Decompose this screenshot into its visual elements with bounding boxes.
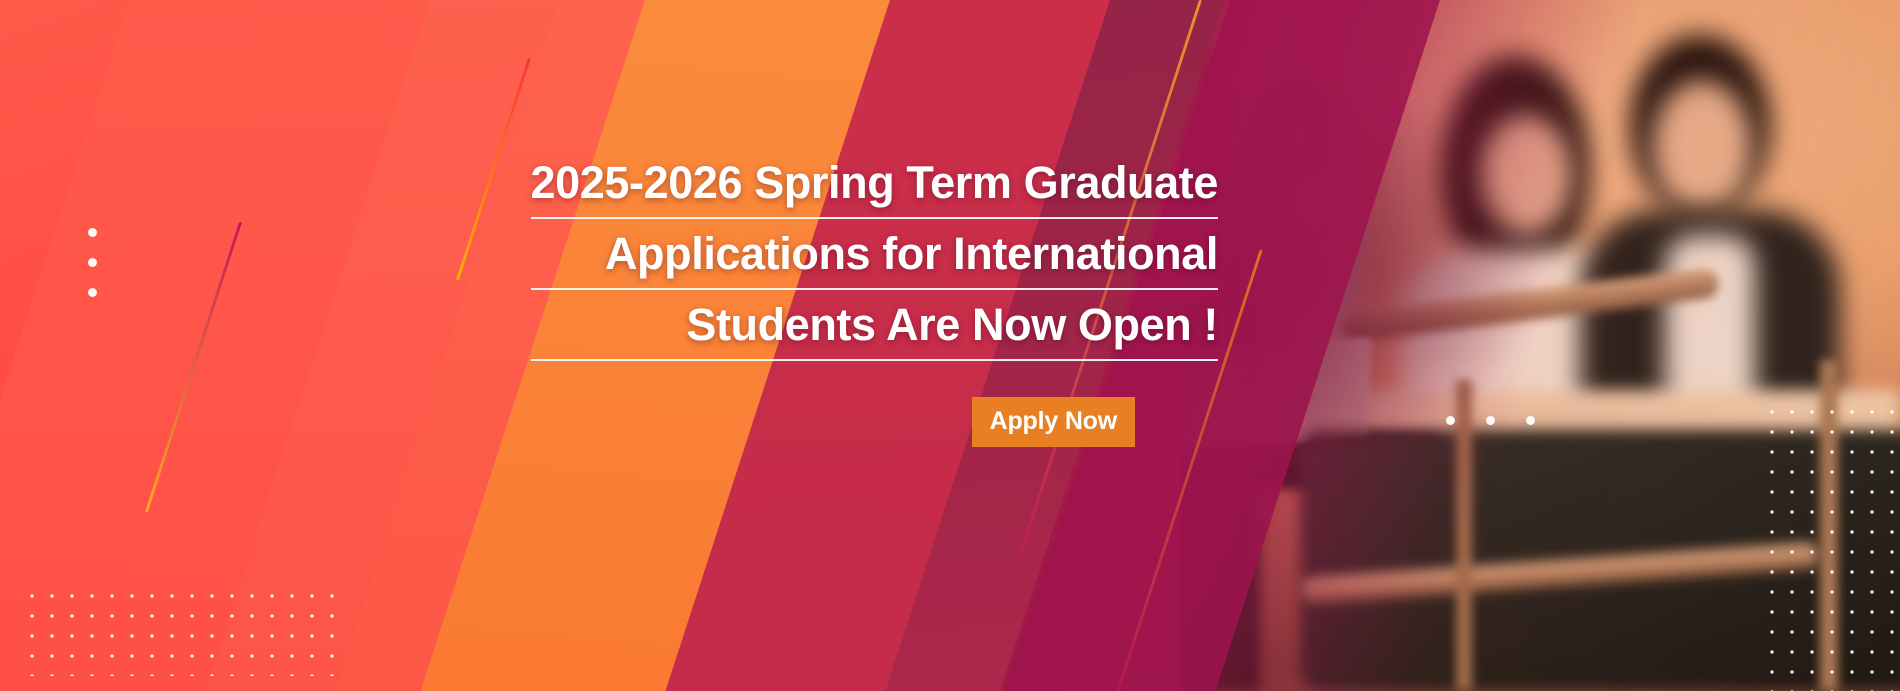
- promo-banner: 2025-2026 Spring Term Graduate Applicati…: [0, 0, 1900, 691]
- headline-line-3: Students Are Now Open !: [531, 300, 1218, 361]
- cta-wrapper: Apply Now: [972, 397, 1135, 447]
- headline-line-1: 2025-2026 Spring Term Graduate: [531, 158, 1218, 219]
- apply-now-button[interactable]: Apply Now: [972, 397, 1135, 447]
- banner-content: 2025-2026 Spring Term Graduate Applicati…: [0, 0, 1900, 691]
- headline: 2025-2026 Spring Term Graduate Applicati…: [531, 158, 1218, 371]
- headline-line-2: Applications for International: [531, 229, 1218, 290]
